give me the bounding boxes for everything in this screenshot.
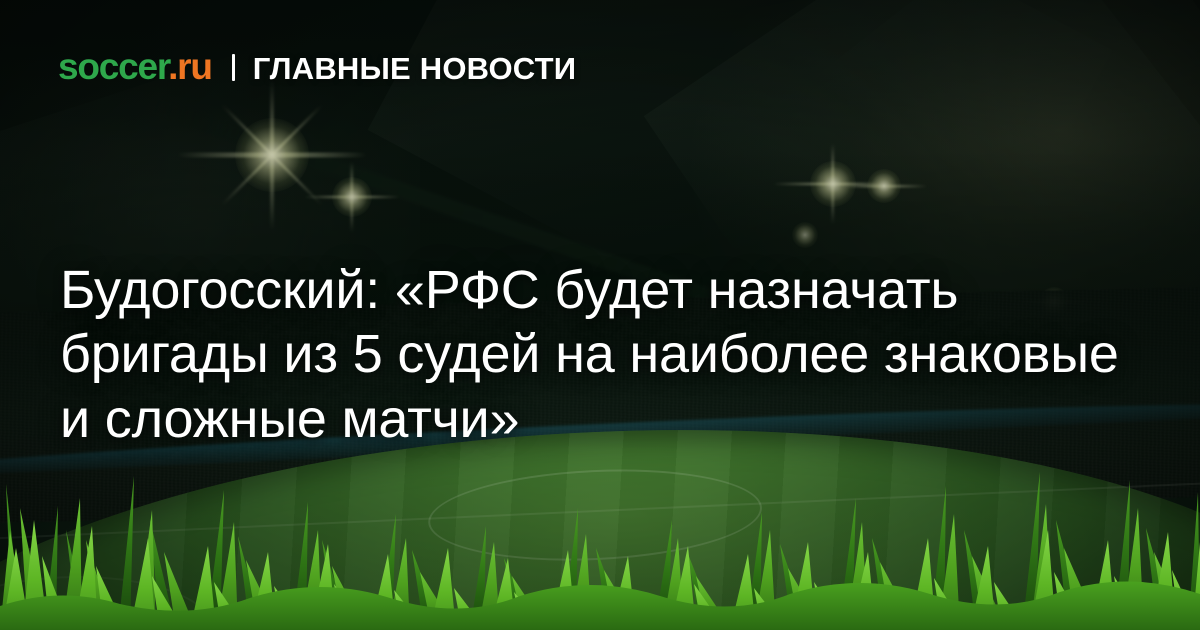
site-logo[interactable]: soccer.ru [58, 48, 212, 85]
news-share-card: soccer.ru ГЛАВНЫЕ НОВОСТИ Будогосский: «… [0, 0, 1200, 630]
header-divider [232, 54, 235, 81]
page-title: Будогосский: «РФС будет назначать бригад… [60, 258, 1120, 451]
logo-name-part: soccer [58, 46, 168, 87]
card-header: soccer.ru ГЛАВНЫЕ НОВОСТИ [58, 48, 576, 85]
section-kicker: ГЛАВНЫЕ НОВОСТИ [253, 53, 576, 84]
logo-tld-part: ru [177, 46, 212, 87]
logo-dot: . [168, 46, 177, 87]
